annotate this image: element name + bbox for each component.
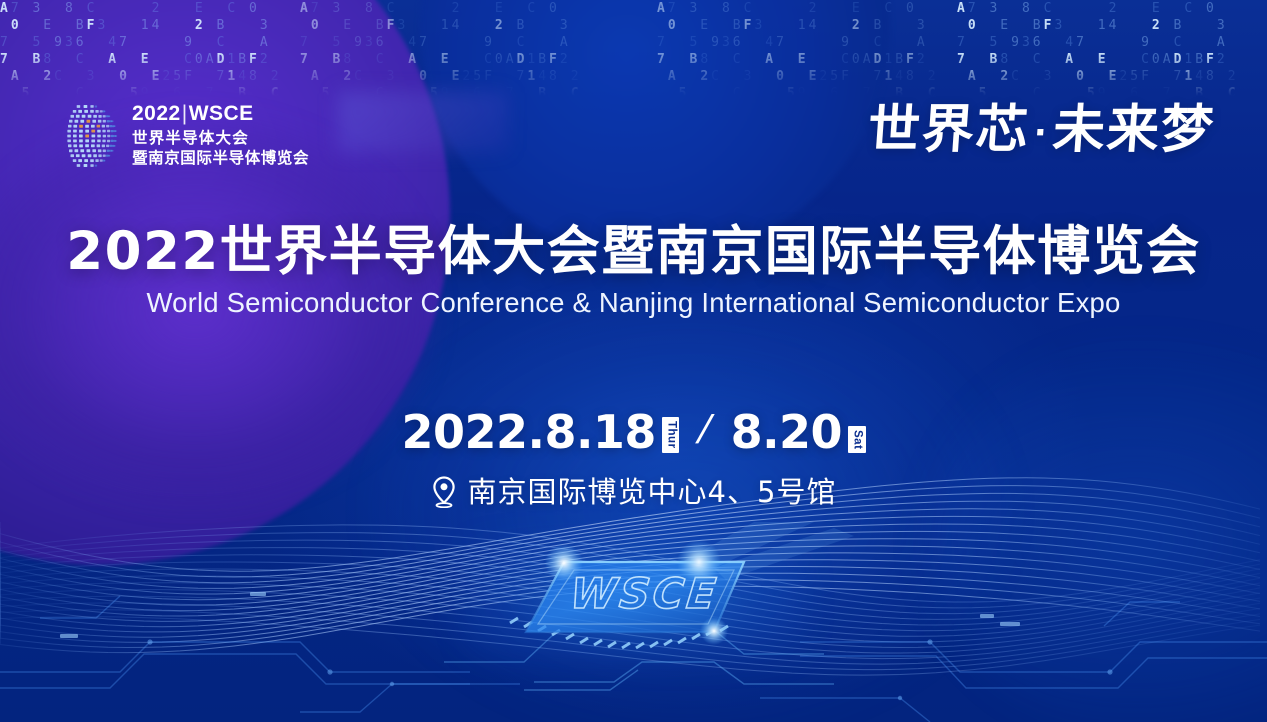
slogan-part-2: 未来梦 [1051,100,1217,160]
logo-text-block: 2022|WSCE 世界半导体大会 暨南京国际半导体博览会 [132,103,309,169]
venue-name: 南京国际博览中心4、5号馆 [468,478,837,507]
event-date: 2022.8.18 Thur / 8.20 Sat [0,409,1267,455]
event-slogan: 世界芯·未来梦 [866,104,1217,156]
slogan-part-1: 世界芯 [866,100,1032,160]
event-logo: 2022|WSCE 世界半导体大会 暨南京国际半导体博览会 [46,98,309,174]
title-block: 2022世界半导体大会暨南京国际半导体博览会 World Semiconduct… [0,224,1267,318]
logo-title-line: 2022|WSCE [132,103,309,124]
slogan-separator: · [1028,113,1054,153]
logo-year: 2022 [132,102,181,125]
date-start: 2022.8.18 [401,409,656,455]
date-end-weekday-badge: Sat [848,426,866,453]
event-venue: 南京国际博览中心4、5号馆 [0,476,1267,508]
chip-graphic: WSCE [414,522,854,692]
location-pin-icon [431,476,457,508]
logo-subtitle-cn-1: 世界半导体大会 [132,129,309,149]
date-start-weekday-badge: Thur [662,417,680,453]
date-separator: / [694,410,717,450]
poster-canvas: A7 3 8 C 2 E C 0 0 E BF3 14 2 B 3 7 5 93… [0,0,1267,722]
logo-abbr: WSCE [189,102,254,125]
logo-subtitle-cn-2: 暨南京国际半导体博览会 [132,149,309,169]
date-end: 8.20 [731,409,843,455]
chip-illustration: WSCE [414,522,854,692]
page-title: 2022世界半导体大会暨南京国际半导体博览会 [0,224,1267,280]
logo-divider: | [181,102,189,125]
globe-dots-icon [46,98,122,174]
page-subtitle-english: World Semiconductor Conference & Nanjing… [0,288,1267,318]
